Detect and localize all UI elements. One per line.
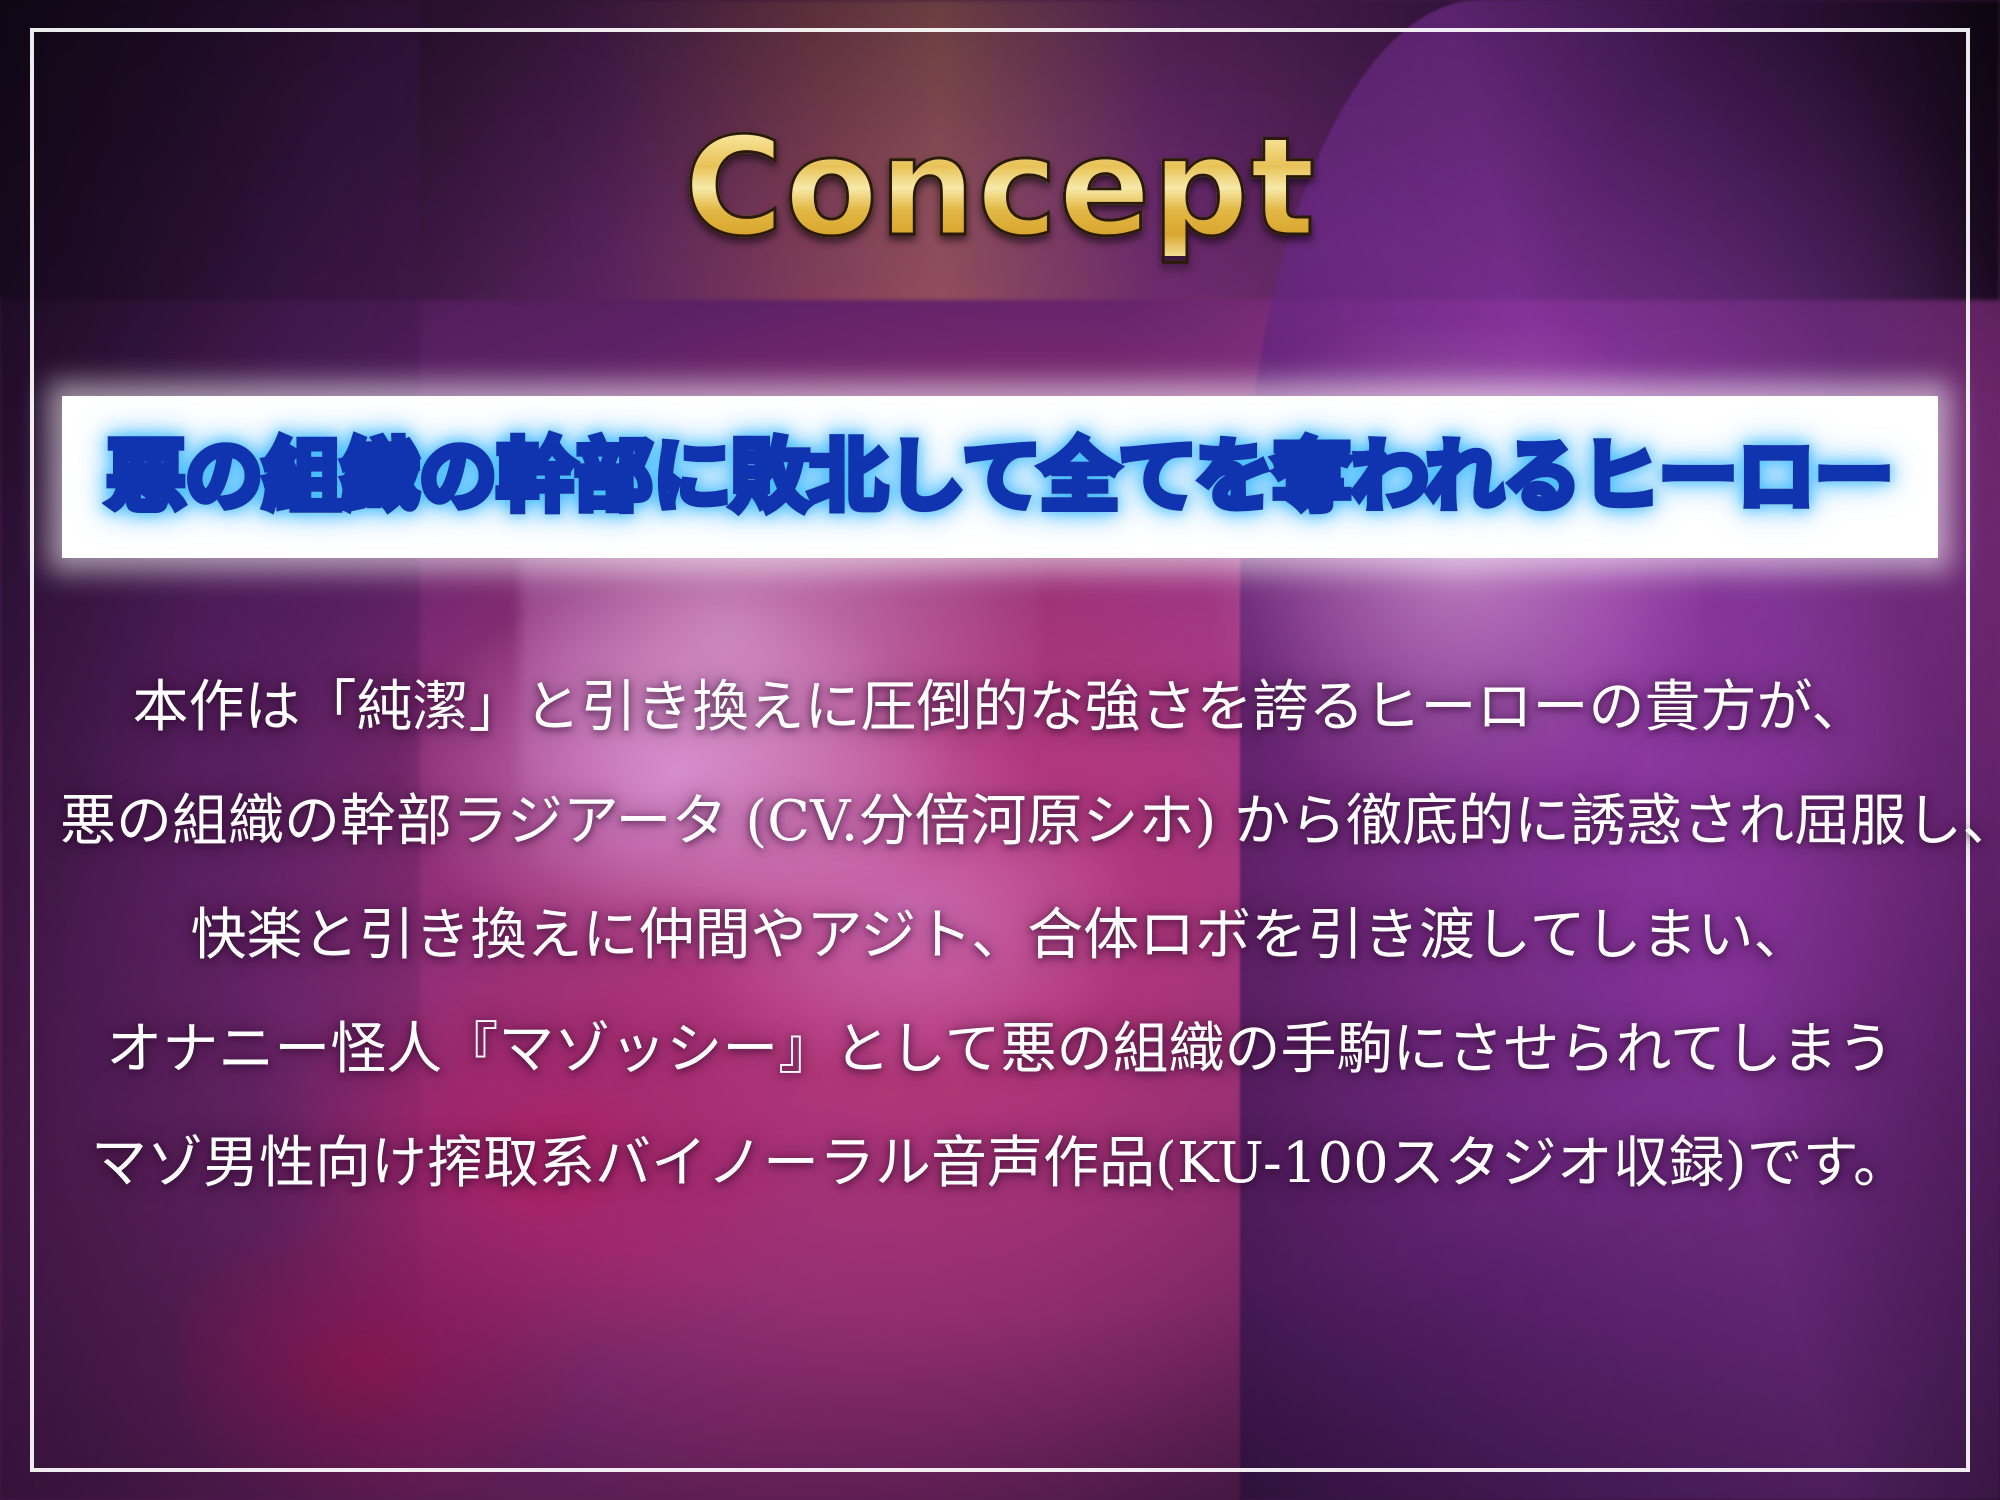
page-title-container: Concept [0,120,2000,256]
description-line: 快楽と引き換えに仲間やアジト、合体ロボを引き渡してしまい、 [60,908,1940,964]
description-line: 本作は「純潔」と引き換えに圧倒的な強さを誇るヒーローの貴方が、 [60,680,1940,736]
headline-banner: 悪の組織の幹部に敗北して全てを奪われるヒーロー [62,396,1938,558]
page-title: Concept [684,120,1316,256]
headline-text: 悪の組織の幹部に敗北して全てを奪われるヒーロー [107,438,1893,516]
description-line: 悪の組織の幹部ラジアータ (CV.分倍河原シホ) から徹底的に誘惑され屈服し、 [60,794,1940,850]
description-line: オナニー怪人『マゾッシー』として悪の組織の手駒にさせられてしまう [60,1022,1940,1078]
description-line: マゾ男性向け搾取系バイノーラル音声作品(KU-100スタジオ収録)です。 [60,1136,1940,1192]
concept-slide: Concept 悪の組織の幹部に敗北して全てを奪われるヒーロー 本作は「純潔」と… [0,0,2000,1500]
description-block: 本作は「純潔」と引き換えに圧倒的な強さを誇るヒーローの貴方が、 悪の組織の幹部ラ… [60,680,1940,1192]
